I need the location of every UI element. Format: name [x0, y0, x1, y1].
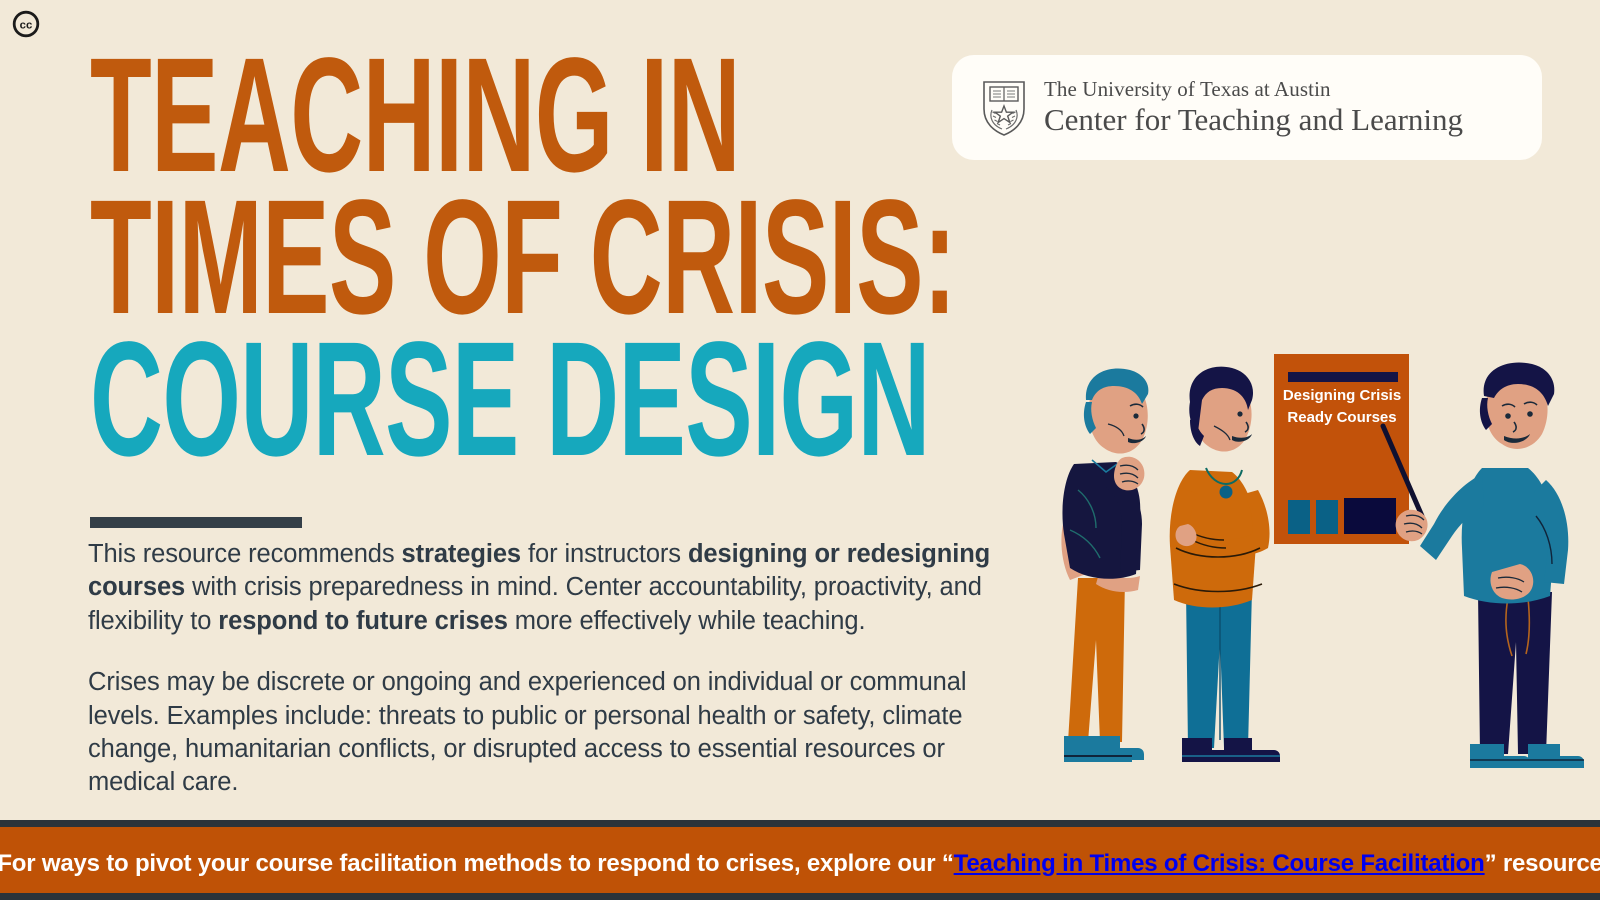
title-divider-rule — [90, 517, 302, 528]
three-people-presentation-illustration: Designing Crisis Ready Courses — [1030, 340, 1590, 815]
figure-thinking-man — [1061, 368, 1148, 762]
poster-canvas: cc The University of Tex — [0, 0, 1600, 900]
logo-university-name: The University of Texas at Austin — [1044, 78, 1463, 101]
banner-resource-link[interactable]: Teaching in Times of Crisis: Course Faci… — [954, 850, 1485, 877]
logo-center-name: Center for Teaching and Learning — [1044, 102, 1463, 138]
body-paragraph-2: Crises may be discrete or ongoing and ex… — [88, 666, 1038, 800]
poster-title-line-1: Designing Crisis — [1278, 385, 1406, 407]
banner-suffix: ” resource — [1485, 850, 1600, 877]
banner-prefix: For ways to pivot your course facilitati… — [0, 850, 954, 877]
figure-presenter — [1396, 362, 1584, 768]
body-paragraph-1: This resource recommends strategies for … — [88, 538, 1038, 638]
ut-ctl-logo-card: The University of Texas at Austin Center… — [952, 55, 1542, 160]
title-line-3: COURSE DESIGN — [90, 328, 623, 470]
poster-title: Designing Crisis Ready Courses — [1278, 385, 1406, 429]
ut-shield-icon — [980, 79, 1028, 137]
banner-top-rule — [0, 820, 1600, 827]
banner-text: For ways to pivot your course facilitati… — [0, 850, 1600, 878]
creative-commons-icon[interactable]: cc — [12, 10, 40, 38]
banner-bottom-rule — [0, 893, 1600, 900]
figure-arms-crossed — [1170, 367, 1280, 762]
poster-title-line-2: Ready Courses — [1278, 407, 1406, 429]
presentation-poster — [1274, 354, 1409, 544]
page-title: TEACHING IN TIMES OF CRISIS: COURSE DESI… — [90, 44, 950, 469]
svg-text:cc: cc — [20, 20, 33, 32]
body-copy: This resource recommends strategies for … — [88, 538, 1038, 800]
bottom-banner: For ways to pivot your course facilitati… — [0, 827, 1600, 900]
